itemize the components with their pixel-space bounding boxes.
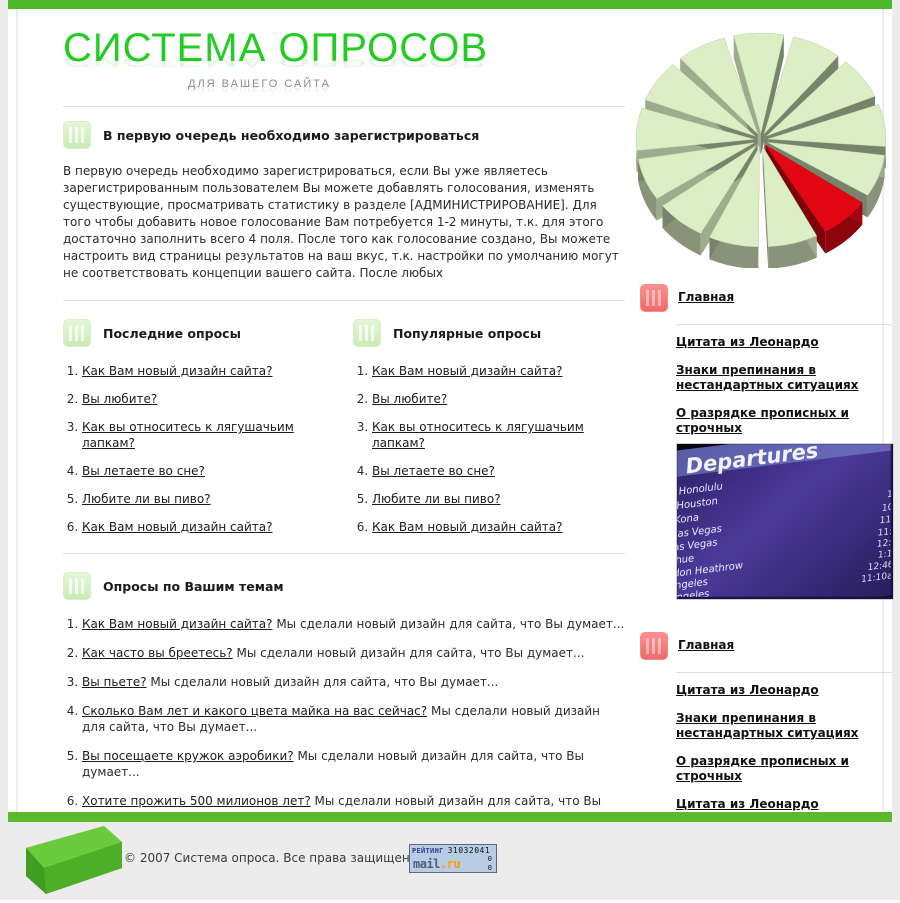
mailru-logo: mail.ru — [413, 857, 460, 871]
list-item: Как вы относитесь к лягушачьим лапкам? — [82, 419, 325, 451]
counter-rating-number: 31032041 — [448, 846, 491, 855]
sidebar-link-leonardo-quote-2[interactable]: Цитата из Леонардо — [676, 797, 892, 812]
theme-poll-text: Мы сделали новый дизайн для сайта, что В… — [276, 617, 624, 631]
popular-polls-heading: Популярные опросы — [393, 326, 541, 341]
intro-paragraph: В первую очередь необходимо зарегистриро… — [63, 163, 625, 282]
divider — [63, 553, 625, 554]
site-title: СИСТЕМА ОПРОСОВ — [63, 26, 623, 70]
svg-text:12: 12 — [887, 489, 891, 500]
pie-chart-svg — [630, 28, 892, 268]
poll-link[interactable]: Как вы относитесь к лягушачьим лапкам? — [372, 420, 584, 450]
poll-link[interactable]: Любите ли вы пиво? — [372, 492, 501, 506]
svg-text:10:3: 10:3 — [882, 501, 891, 513]
poll-link[interactable]: Как Вам новый дизайн сайта? — [372, 520, 563, 534]
bars-icon-red — [640, 284, 668, 312]
counter-top-row: РЕЙТИНГ 31032041 — [412, 846, 490, 855]
list-item: Вы летаете во сне? — [372, 463, 615, 479]
theme-poll-link[interactable]: Хотите прожить 500 милионов лет? — [82, 794, 311, 808]
list-item: Как Вам новый дизайн сайта? — [372, 363, 615, 379]
list-item: Как часто вы бреетесь? Мы сделали новый … — [82, 645, 625, 661]
list-item: Любите ли вы пиво? — [82, 491, 325, 507]
bars-icon — [63, 572, 91, 600]
theme-polls-heading: Опросы по Вашим темам — [103, 579, 284, 594]
divider — [63, 300, 625, 301]
theme-poll-text: Мы сделали новый дизайн для сайта, что В… — [237, 646, 585, 660]
latest-polls-heading: Последние опросы — [103, 326, 241, 341]
theme-poll-link[interactable]: Вы пьете? — [82, 675, 147, 689]
pie-wedge-logo — [26, 824, 130, 900]
sidebar-top-block: Главная Цитата из Леонардо Знаки препина… — [640, 284, 892, 449]
copyright-text: © 2007 Система опроса. Все права защищен… — [124, 851, 419, 865]
list-item: Как Вам новый дизайн сайта? Мы сделали н… — [82, 616, 625, 632]
poll-link[interactable]: Как Вам новый дизайн сайта? — [82, 520, 273, 534]
mailru-rating-counter[interactable]: РЕЙТИНГ 31032041 mail.ru 0 0 — [409, 844, 497, 873]
divider — [676, 672, 892, 673]
mailru-brand: mail — [413, 857, 440, 871]
theme-poll-link[interactable]: Сколько Вам лет и какого цвета майка на … — [82, 704, 427, 718]
bars-icon — [63, 319, 91, 347]
counter-value-1: 0 — [488, 855, 492, 863]
list-item: Как вы относитесь к лягушачьим лапкам? — [372, 419, 615, 451]
poll-link[interactable]: Любите ли вы пиво? — [82, 492, 211, 506]
popular-polls-column: Популярные опросы Как Вам новый дизайн с… — [353, 319, 615, 547]
sidebar-top-header: Главная — [640, 284, 892, 312]
bars-icon — [353, 319, 381, 347]
bars-icon — [63, 121, 91, 149]
popular-polls-list: Как Вам новый дизайн сайта? Вы любите? К… — [353, 363, 615, 535]
list-item: Вы любите? — [372, 391, 615, 407]
intro-heading: В первую очередь необходимо зарегистриро… — [103, 128, 479, 143]
poll-link[interactable]: Как Вам новый дизайн сайта? — [372, 364, 563, 378]
list-item: Вы любите? — [82, 391, 325, 407]
site-subtitle: ДЛЯ ВАШЕГО САЙТА — [188, 78, 331, 90]
list-item: Вы летаете во сне? — [82, 463, 325, 479]
list-item: Сколько Вам лет и какого цвета майка на … — [82, 703, 625, 735]
sidebar-link-leonardo-quote[interactable]: Цитата из Леонардо — [676, 683, 892, 698]
poll-link[interactable]: Вы летаете во сне? — [82, 464, 205, 478]
sidebar-link-punctuation[interactable]: Знаки препинания в нестандартных ситуаци… — [676, 711, 892, 741]
sidebar-bottom-header: Главная — [640, 632, 892, 660]
sidebar-link-letter-spacing[interactable]: О разрядке прописных и строчных — [676, 754, 892, 784]
departures-photo-svg: Departures Honolulu Houston Kona Las Veg… — [677, 444, 891, 597]
top-accent-bar — [8, 0, 892, 9]
sidebar-link-punctuation[interactable]: Знаки препинания в нестандартных ситуаци… — [676, 363, 892, 393]
poll-link[interactable]: Вы летаете во сне? — [372, 464, 495, 478]
theme-poll-text: Мы сделали новый дизайн для сайта, что В… — [150, 675, 498, 689]
sidebar-link-home[interactable]: Главная — [678, 632, 734, 658]
latest-polls-list: Как Вам новый дизайн сайта? Вы любите? К… — [63, 363, 325, 535]
sidebar-bottom-links: Цитата из Леонардо Знаки препинания в не… — [676, 683, 892, 812]
poll-link[interactable]: Вы любите? — [82, 392, 157, 406]
pie-wedge-svg — [26, 824, 130, 900]
latest-polls-header: Последние опросы — [63, 319, 325, 347]
theme-polls-header: Опросы по Вашим темам — [63, 572, 625, 600]
main-content: В первую очередь необходимо зарегистриро… — [63, 106, 625, 883]
sidebar-top-links: Цитата из Леонардо Знаки препинания в не… — [676, 335, 892, 436]
sidebar-link-letter-spacing[interactable]: О разрядке прописных и строчных — [676, 406, 892, 436]
divider — [676, 324, 892, 325]
theme-poll-link[interactable]: Как часто вы бреетесь? — [82, 646, 233, 660]
bars-icon-red — [640, 632, 668, 660]
list-item: Как Вам новый дизайн сайта? — [82, 363, 325, 379]
latest-polls-column: Последние опросы Как Вам новый дизайн са… — [63, 319, 325, 547]
sidebar-bottom-block: Главная Цитата из Леонардо Знаки препина… — [640, 632, 892, 825]
list-item: Любите ли вы пиво? — [372, 491, 615, 507]
poll-link[interactable]: Вы любите? — [372, 392, 447, 406]
departures-photo-block: Departures Honolulu Houston Kona Las Veg… — [640, 443, 892, 600]
popular-polls-header: Популярные опросы — [353, 319, 615, 347]
poll-link[interactable]: Как вы относитесь к лягушачьим лапкам? — [82, 420, 294, 450]
sidebar-link-home[interactable]: Главная — [678, 284, 734, 310]
mailru-brand-suffix: .ru — [440, 857, 460, 871]
counter-rating-label: РЕЙТИНГ — [412, 847, 444, 855]
list-item: Вы пьете? Мы сделали новый дизайн для са… — [82, 674, 625, 690]
departures-board-photo: Departures Honolulu Houston Kona Las Veg… — [676, 443, 894, 600]
svg-text:1:16p: 1:16p — [878, 548, 891, 561]
intro-header: В первую очередь необходимо зарегистриро… — [63, 121, 625, 149]
list-item: Как Вам новый дизайн сайта? — [372, 519, 615, 535]
footer-accent-bar — [8, 812, 892, 822]
poll-link[interactable]: Как Вам новый дизайн сайта? — [82, 364, 273, 378]
sidebar-link-leonardo-quote[interactable]: Цитата из Леонардо — [676, 335, 892, 350]
site-header: СИСТЕМА ОПРОСОВ СИСТЕМА ОПРОСОВ ДЛЯ ВАШЕ… — [63, 26, 623, 101]
divider — [63, 106, 625, 107]
theme-poll-link[interactable]: Вы посещаете кружок аэробики? — [82, 749, 294, 763]
list-item: Как Вам новый дизайн сайта? — [82, 519, 325, 535]
page-root: СИСТЕМА ОПРОСОВ СИСТЕМА ОПРОСОВ ДЛЯ ВАШЕ… — [0, 0, 900, 900]
list-item: Вы посещаете кружок аэробики? Мы сделали… — [82, 748, 625, 780]
left-edge-shadow — [16, 9, 19, 900]
pie-chart — [630, 28, 892, 268]
counter-value-2: 0 — [488, 864, 492, 872]
polls-columns: Последние опросы Как Вам новый дизайн са… — [63, 319, 625, 547]
theme-poll-link[interactable]: Как Вам новый дизайн сайта? — [82, 617, 273, 631]
